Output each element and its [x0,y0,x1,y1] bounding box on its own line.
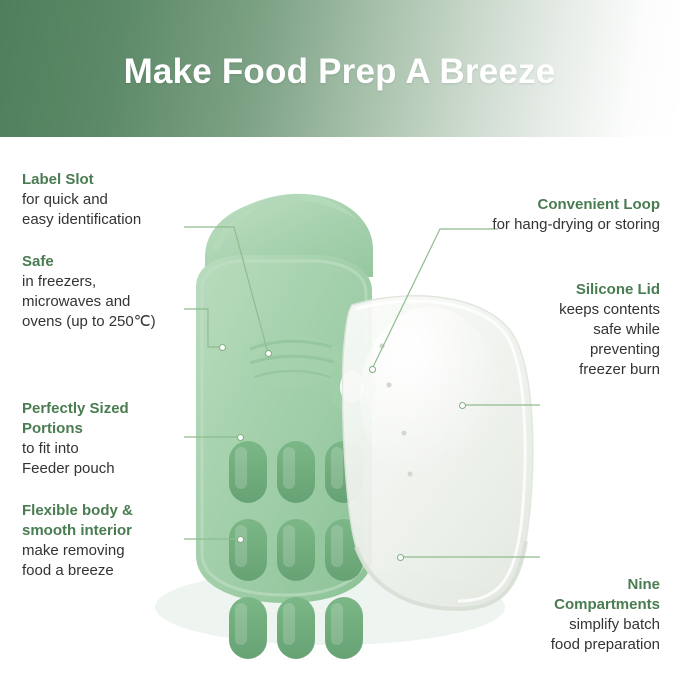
callout-dot-loop [369,366,376,373]
callout-nine-compartments: Nine Compartments simplify batch food pr… [410,575,660,655]
callout-compartments-title: Nine Compartments [410,575,660,615]
callout-safe-body: in freezers, microwaves and ovens (up to… [22,272,212,332]
callout-dot-safe [219,344,226,351]
header-banner: Make Food Prep A Breeze [0,0,679,137]
callout-dot-label-slot [265,350,272,357]
page-title: Make Food Prep A Breeze [0,0,679,137]
callout-lid-title: Silicone Lid [410,280,660,300]
callout-dot-portions [237,434,244,441]
callout-loop-body: for hang-drying or storing [360,215,660,235]
callout-flexible-title: Flexible body & smooth interior [22,501,212,541]
callout-convenient-loop: Convenient Loop for hang-drying or stori… [360,195,660,235]
callout-perfectly-sized-portions: Perfectly Sized Portions to fit into Fee… [22,399,212,479]
callout-label-slot: Label Slot for quick and easy identifica… [22,170,202,230]
callout-dot-lid [459,402,466,409]
callout-lid-body: keeps contents safe while preventing fre… [410,300,660,380]
callout-label-slot-title: Label Slot [22,170,202,190]
callout-dot-compartments [397,554,404,561]
callout-portions-body: to fit into Feeder pouch [22,439,212,479]
callout-flexible-body-text: make removing food a breeze [22,541,212,581]
callout-safe: Safe in freezers, microwaves and ovens (… [22,252,212,332]
callout-dot-flexible [237,536,244,543]
product-photo: Label Slot for quick and easy identifica… [0,137,679,679]
callout-silicone-lid: Silicone Lid keeps contents safe while p… [410,280,660,380]
callout-flexible-body: Flexible body & smooth interior make rem… [22,501,212,581]
callout-compartments-body: simplify batch food preparation [410,615,660,655]
callout-label-slot-body: for quick and easy identification [22,190,202,230]
callout-loop-title: Convenient Loop [360,195,660,215]
callout-safe-title: Safe [22,252,212,272]
callout-portions-title: Perfectly Sized Portions [22,399,212,439]
